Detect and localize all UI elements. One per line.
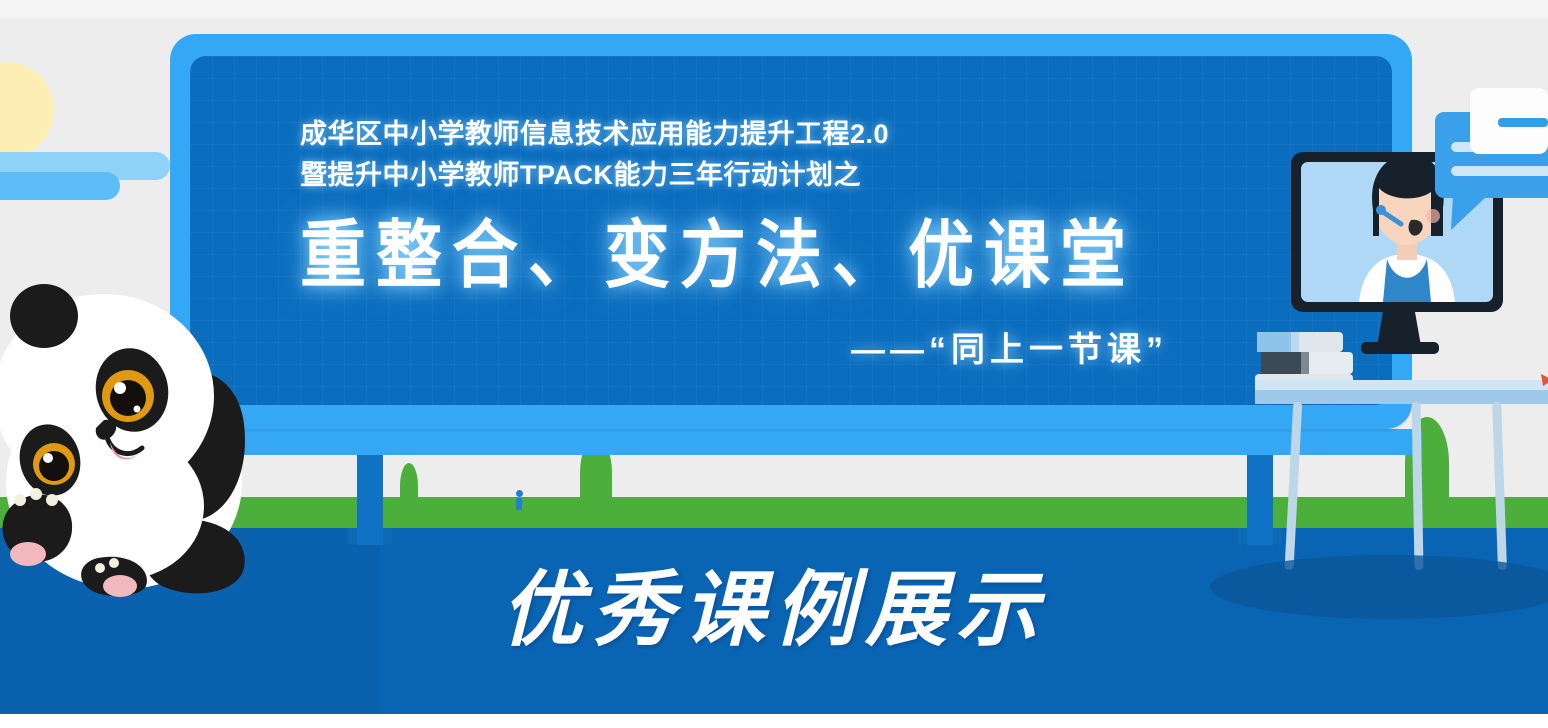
bottom-white-strip [0,714,1548,728]
subtitle-line-1: 成华区中小学教师信息技术应用能力提升工程2.0 [300,114,1328,155]
headline: 重整合、变方法、优课堂 [300,212,1328,297]
subtitle-line-2: 暨提升中小学教师TPACK能力三年行动计划之 [300,155,1328,196]
card-line-icon [1498,118,1548,127]
top-strip [0,0,1548,18]
panda-mascot-icon [0,268,284,598]
banner-image: 成华区中小学教师信息技术应用能力提升工程2.0 暨提升中小学教师TPACK能力三… [0,0,1548,728]
caption-title: 优秀课例展示 [0,560,1548,660]
cloud-icon [0,172,120,200]
tagline: ——“同上一节课” [300,322,1328,371]
online-class-illustration [1255,84,1548,584]
